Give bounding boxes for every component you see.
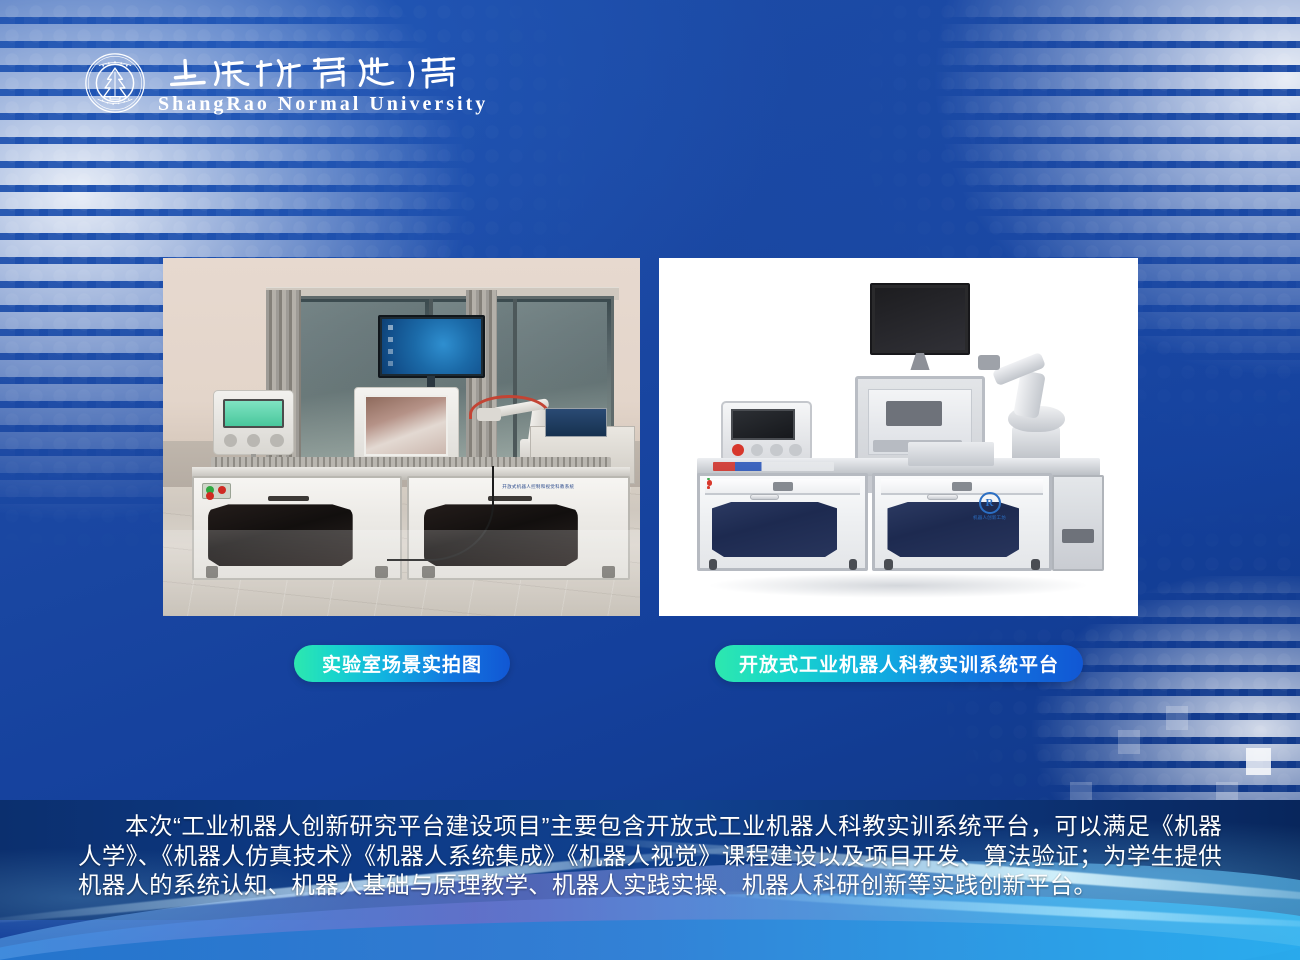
logo-english-name: ShangRao Normal University — [158, 94, 488, 114]
teach-pendant — [213, 390, 294, 454]
accent-square-bright — [1246, 748, 1271, 775]
brand-mark-icon: R — [979, 492, 1001, 514]
platform-cabinets — [697, 473, 1104, 588]
presentation-slide: ShangRao Normal University — [0, 0, 1300, 960]
photo-gallery: 开放式机器人控制和视觉科教系统 — [0, 258, 1300, 616]
work-cell-enclosure — [354, 387, 459, 468]
laboratory-scene-photo[interactable]: 开放式机器人控制和视觉科教系统 — [163, 258, 640, 616]
display-monitor — [870, 283, 971, 355]
caption-pill-laboratory[interactable]: 实验室场景实拍图 — [294, 645, 510, 682]
brand-text: 机器人创新工坊 — [973, 515, 1006, 521]
accent-square-dim-2 — [1118, 730, 1140, 754]
description-paragraph: 本次“工业机器人创新研究平台建设项目”主要包含开放式工业机器人科教实训系统平台，… — [78, 812, 1222, 901]
caption-pill-platform[interactable]: 开放式工业机器人科教实训系统平台 — [715, 645, 1083, 682]
floor-reflection — [163, 530, 640, 616]
photo-captions: 实验室场景实拍图 开放式工业机器人科教实训系统平台 — [0, 645, 1300, 683]
university-seal-icon — [84, 52, 146, 114]
wall-monitor — [378, 315, 485, 378]
university-logo: ShangRao Normal University — [84, 52, 488, 114]
logo-wordmark: ShangRao Normal University — [158, 53, 488, 114]
brand-logo-on-cabinet: R 机器人创新工坊 — [961, 487, 1018, 526]
hmi-operator-panel — [721, 401, 812, 462]
accent-square-dim-4 — [1166, 706, 1188, 730]
chinese-name-calligraphy — [158, 53, 488, 93]
training-platform-render[interactable]: R 机器人创新工坊 — [659, 258, 1138, 616]
workpiece-fixture — [908, 442, 994, 465]
laptop — [545, 408, 607, 437]
